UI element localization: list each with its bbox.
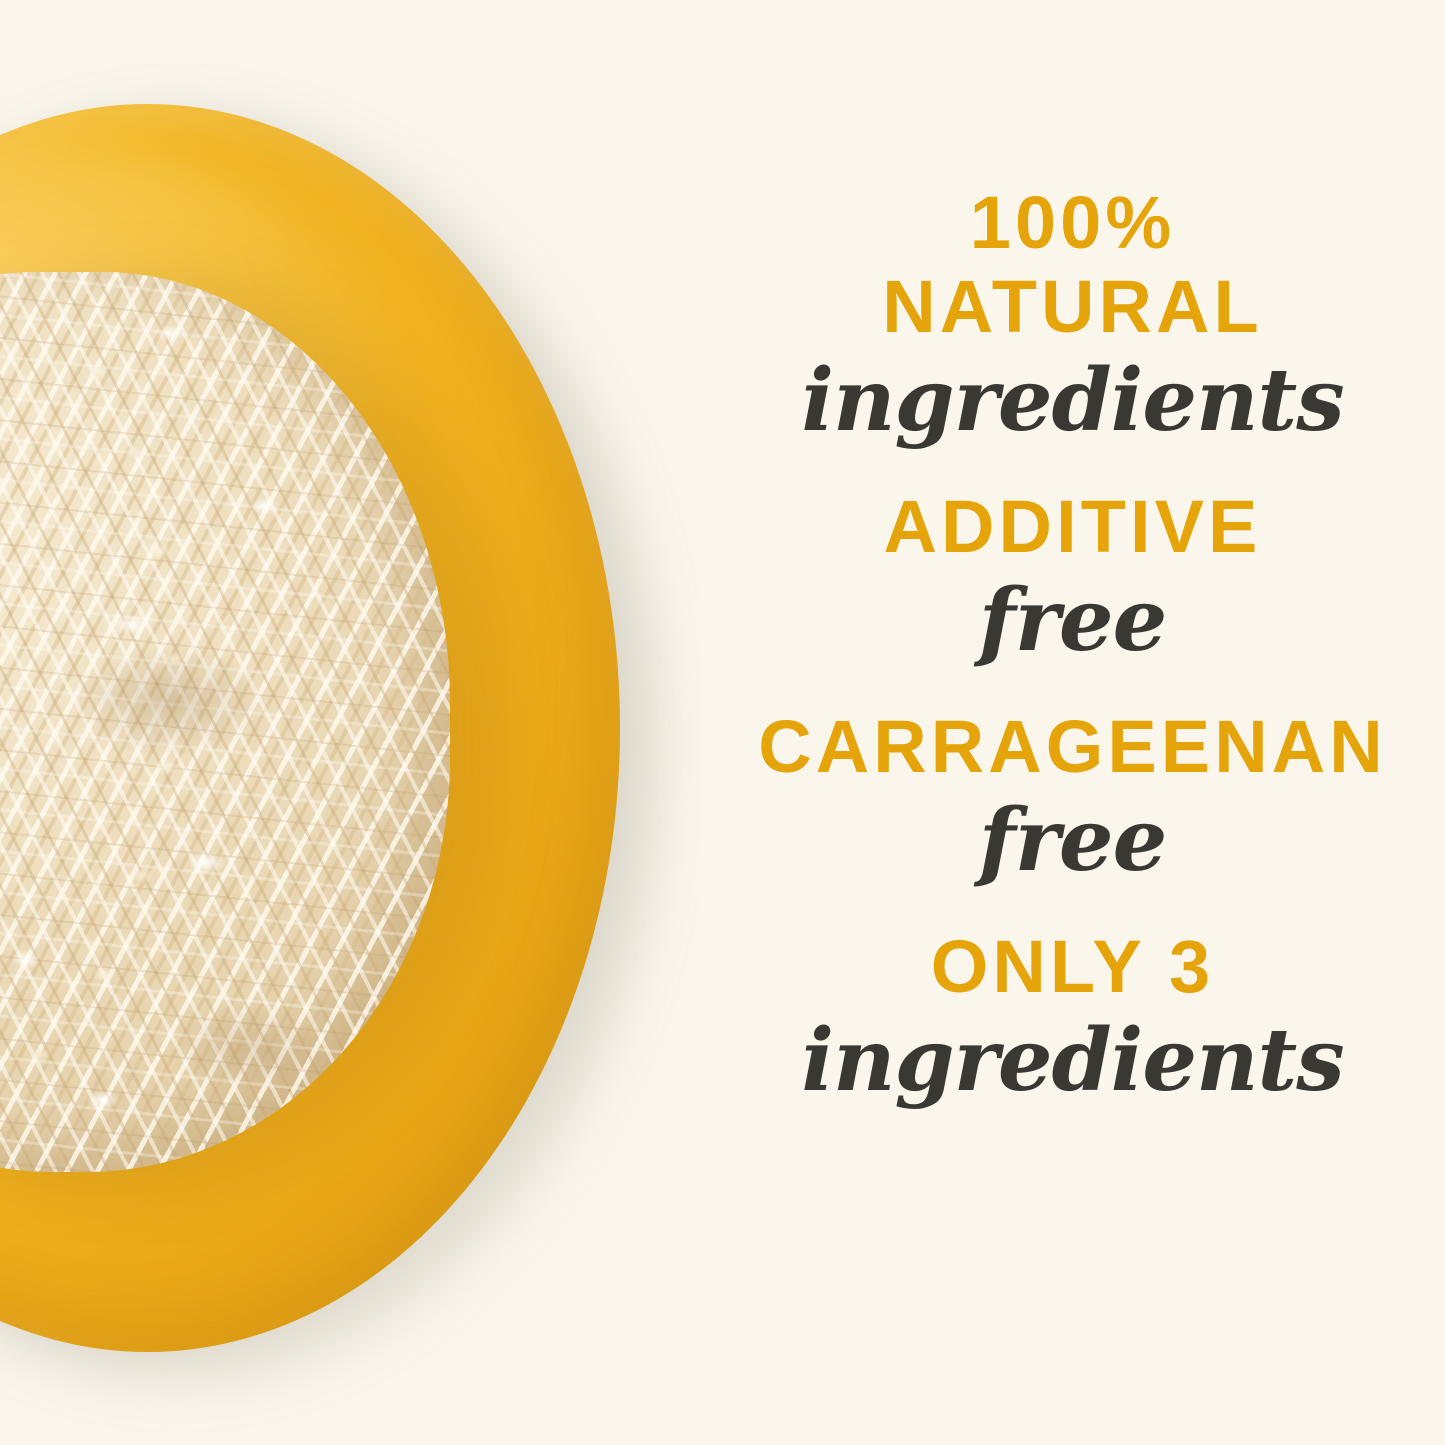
claim-script-line: free [700,798,1445,884]
claims-column: 100% NATURAL ingredients ADDITIVE free C… [700,0,1445,1445]
claim-script-line: ingredients [700,358,1445,444]
shredded-chicken-mound [0,272,450,1172]
claim-strong-line: NATURAL [700,270,1445,344]
claim-carrageenan-free: CARRAGEENAN free [700,710,1445,884]
product-photo [0,0,700,1445]
claim-additive-free: ADDITIVE free [700,490,1445,664]
claim-natural-ingredients: 100% NATURAL ingredients [700,186,1445,444]
claim-strong-line: CARRAGEENAN [700,710,1445,784]
claim-strong-line: ONLY 3 [700,930,1445,1004]
claim-only-3-ingredients: ONLY 3 ingredients [700,930,1445,1104]
claim-script-line: ingredients [700,1018,1445,1104]
product-claims-poster: 100% NATURAL ingredients ADDITIVE free C… [0,0,1445,1445]
food-crevice-shading [0,272,450,1172]
claim-strong-line: 100% [700,186,1445,260]
claim-script-line: free [700,578,1445,664]
claim-strong-line: ADDITIVE [700,490,1445,564]
